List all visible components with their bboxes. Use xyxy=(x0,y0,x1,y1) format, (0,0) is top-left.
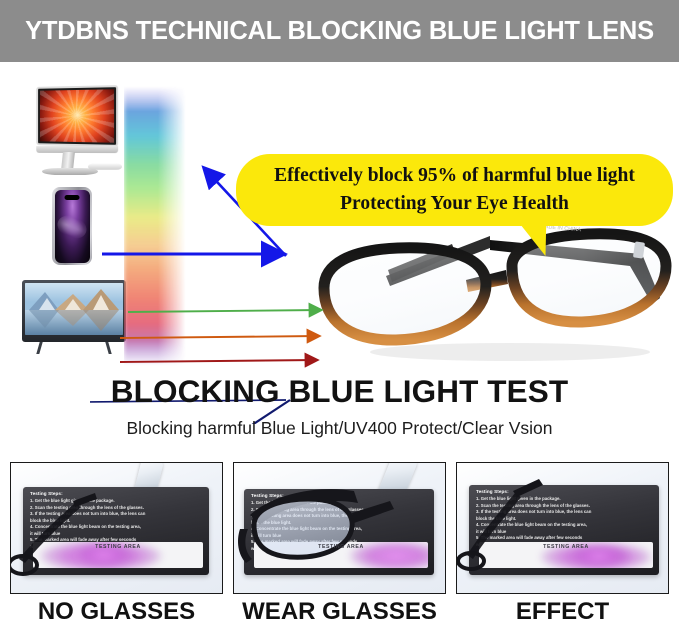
red-ray xyxy=(120,360,316,362)
test-panels: Testing Steps: 1. Get the blue light giv… xyxy=(0,462,679,594)
phone-notch xyxy=(65,195,80,200)
panel-label-row: NO GLASSES WEAR GLASSES EFFECT xyxy=(0,598,679,635)
smartphone-icon xyxy=(52,187,92,265)
phone-wallpaper xyxy=(55,212,90,244)
phone-screen xyxy=(55,190,90,263)
green-ray xyxy=(128,310,320,312)
header-band: YTDBNS TECHNICAL BLOCKING BLUE LIGHT LEN… xyxy=(0,0,679,62)
hero-section: FRAME MADE IN CHINA xyxy=(0,62,679,370)
orange-ray xyxy=(120,336,318,338)
speech-bubble: Effectively block 95% of harmful blue li… xyxy=(236,154,673,226)
panel-label-no-glasses: NO GLASSES xyxy=(10,598,223,626)
strip-label-1: TESTING AREA xyxy=(95,544,141,550)
strip-label-3: TESTING AREA xyxy=(543,544,589,550)
product-infographic: YTDBNS TECHNICAL BLOCKING BLUE LIGHT LEN… xyxy=(0,0,679,635)
panel-no-glasses: Testing Steps: 1. Get the blue light giv… xyxy=(10,462,223,594)
glasses-overlay-1 xyxy=(11,463,223,594)
phone-body xyxy=(52,187,92,265)
strip-label-2: TESTING AREA xyxy=(318,544,364,550)
panel-wear-glasses: Testing Steps: 1. Get the blue light giv… xyxy=(233,462,446,594)
bubble-line-1: Effectively block 95% of harmful blue li… xyxy=(274,162,635,190)
panel-label-wear-glasses: WEAR GLASSES xyxy=(233,598,446,626)
glasses-overlay-3 xyxy=(457,463,669,594)
test-section-title: BLOCKING BLUE LIGHT TEST xyxy=(0,373,679,410)
panel-effect: Testing Steps: 1. Get the blue light giv… xyxy=(456,462,669,594)
glasses-overlay-2 xyxy=(234,463,446,594)
bubble-line-2: Protecting Your Eye Health xyxy=(340,190,569,218)
tv-stand-left xyxy=(36,342,42,354)
test-section-subtitle: Blocking harmful Blue Light/UV400 Protec… xyxy=(0,418,679,439)
panel-label-effect: EFFECT xyxy=(456,598,669,626)
page-title: YTDBNS TECHNICAL BLOCKING BLUE LIGHT LEN… xyxy=(25,17,654,46)
